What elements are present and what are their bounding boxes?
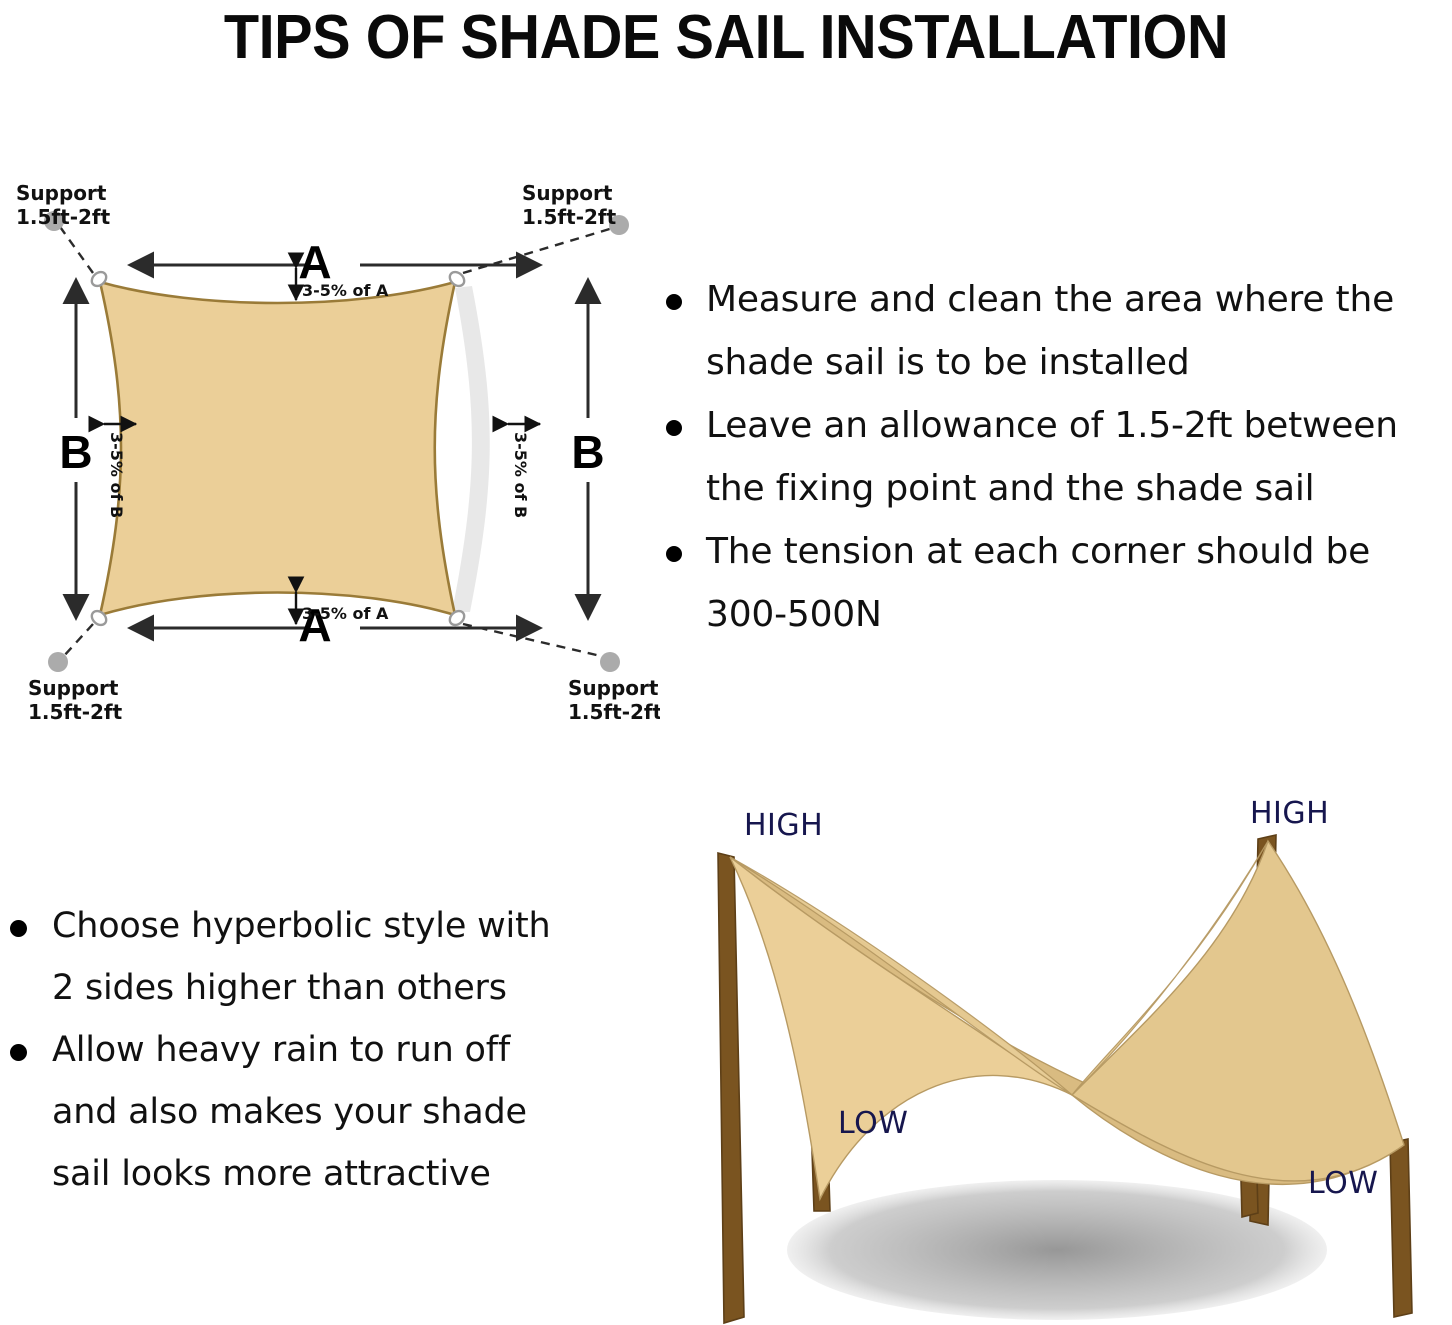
- dimension-right-B: B: [571, 280, 604, 618]
- sail-edge-shadow: [452, 286, 490, 612]
- bullet-icon: [10, 1044, 27, 1061]
- dimension-left-B: B: [59, 280, 92, 618]
- rectangular-sail-diagram: Support 1.5ft-2ft Support 1.5ft-2ft Supp…: [0, 160, 660, 730]
- bullet-icon: [10, 920, 27, 937]
- tips-top-container: Measure and clean the area where the sha…: [650, 268, 1452, 646]
- support-label-br-line1: Support: [568, 676, 659, 700]
- bullet-icon: [666, 420, 682, 436]
- dimension-label-B-right: B: [571, 426, 604, 478]
- tips-bottom-container: Choose hyperbolic style with 2 sides hig…: [0, 895, 625, 1205]
- support-label-tr-line2: 1.5ft-2ft: [522, 205, 617, 229]
- list-item: Measure and clean the area where the sha…: [650, 268, 1452, 394]
- tip-line: 300-500N: [706, 594, 882, 635]
- tip-line: Choose hyperbolic style with: [52, 906, 551, 946]
- tip-line: The tension at each corner should be: [706, 531, 1370, 572]
- tip-line: Leave an allowance of 1.5-2ft between: [706, 405, 1398, 446]
- leader-bottom-left: [63, 624, 93, 657]
- bullet-icon: [666, 294, 682, 310]
- list-item: The tension at each corner should be 300…: [650, 520, 1452, 646]
- curve-indicator-right: 3-5% of B: [508, 424, 540, 518]
- post-right-low: [1390, 1139, 1412, 1317]
- support-label-tr-line1: Support: [522, 181, 613, 205]
- support-label-tl-line2: 1.5ft-2ft: [16, 205, 111, 229]
- support-dot-bottom-right: [600, 652, 620, 672]
- sail-panel-front: [730, 857, 1072, 1199]
- curve-label-left: 3-5% of B: [107, 432, 126, 518]
- tip-line: Allow heavy rain to run off: [52, 1030, 510, 1070]
- tip-line: the fixing point and the shade sail: [706, 468, 1314, 509]
- curve-label-top: 3-5% of A: [302, 281, 389, 300]
- tip-line: Measure and clean the area where the: [706, 279, 1394, 320]
- leader-top-left: [58, 224, 93, 273]
- curve-label-bottom: 3-5% of A: [302, 604, 389, 623]
- support-label-bl-line1: Support: [28, 676, 119, 700]
- label-low-left: LOW: [838, 1106, 908, 1141]
- label-low-right: LOW: [1308, 1166, 1378, 1201]
- tip-line: 2 sides higher than others: [52, 968, 507, 1008]
- tips-top-list: Measure and clean the area where the sha…: [650, 268, 1452, 646]
- list-item: Leave an allowance of 1.5-2ft between th…: [650, 394, 1452, 520]
- support-label-tl-line1: Support: [16, 181, 107, 205]
- tip-line: sail looks more attractive: [52, 1154, 491, 1194]
- support-label-br-line2: 1.5ft-2ft: [568, 700, 660, 724]
- bullet-icon: [666, 546, 682, 562]
- support-dot-bottom-left: [48, 652, 68, 672]
- dimension-label-B-left: B: [59, 426, 92, 478]
- label-high-left: HIGH: [744, 808, 823, 843]
- tips-bottom-list: Choose hyperbolic style with 2 sides hig…: [0, 895, 625, 1205]
- hyperbolic-sail-diagram: HIGH HIGH LOW LOW: [672, 795, 1452, 1325]
- tip-line: and also makes your shade: [52, 1092, 527, 1132]
- post-left-high: [718, 853, 744, 1323]
- page-title: TIPS OF SHADE SAIL INSTALLATION: [51, 2, 1401, 73]
- list-item: Allow heavy rain to run off and also mak…: [0, 1019, 625, 1205]
- curve-label-right: 3-5% of B: [511, 432, 530, 518]
- tip-line: shade sail is to be installed: [706, 342, 1190, 383]
- shade-sail-shape: [100, 282, 455, 615]
- label-high-right: HIGH: [1250, 796, 1329, 831]
- infographic-page: TIPS OF SHADE SAIL INSTALLATION: [0, 0, 1452, 1325]
- support-label-bl-line2: 1.5ft-2ft: [28, 700, 123, 724]
- list-item: Choose hyperbolic style with 2 sides hig…: [0, 895, 625, 1019]
